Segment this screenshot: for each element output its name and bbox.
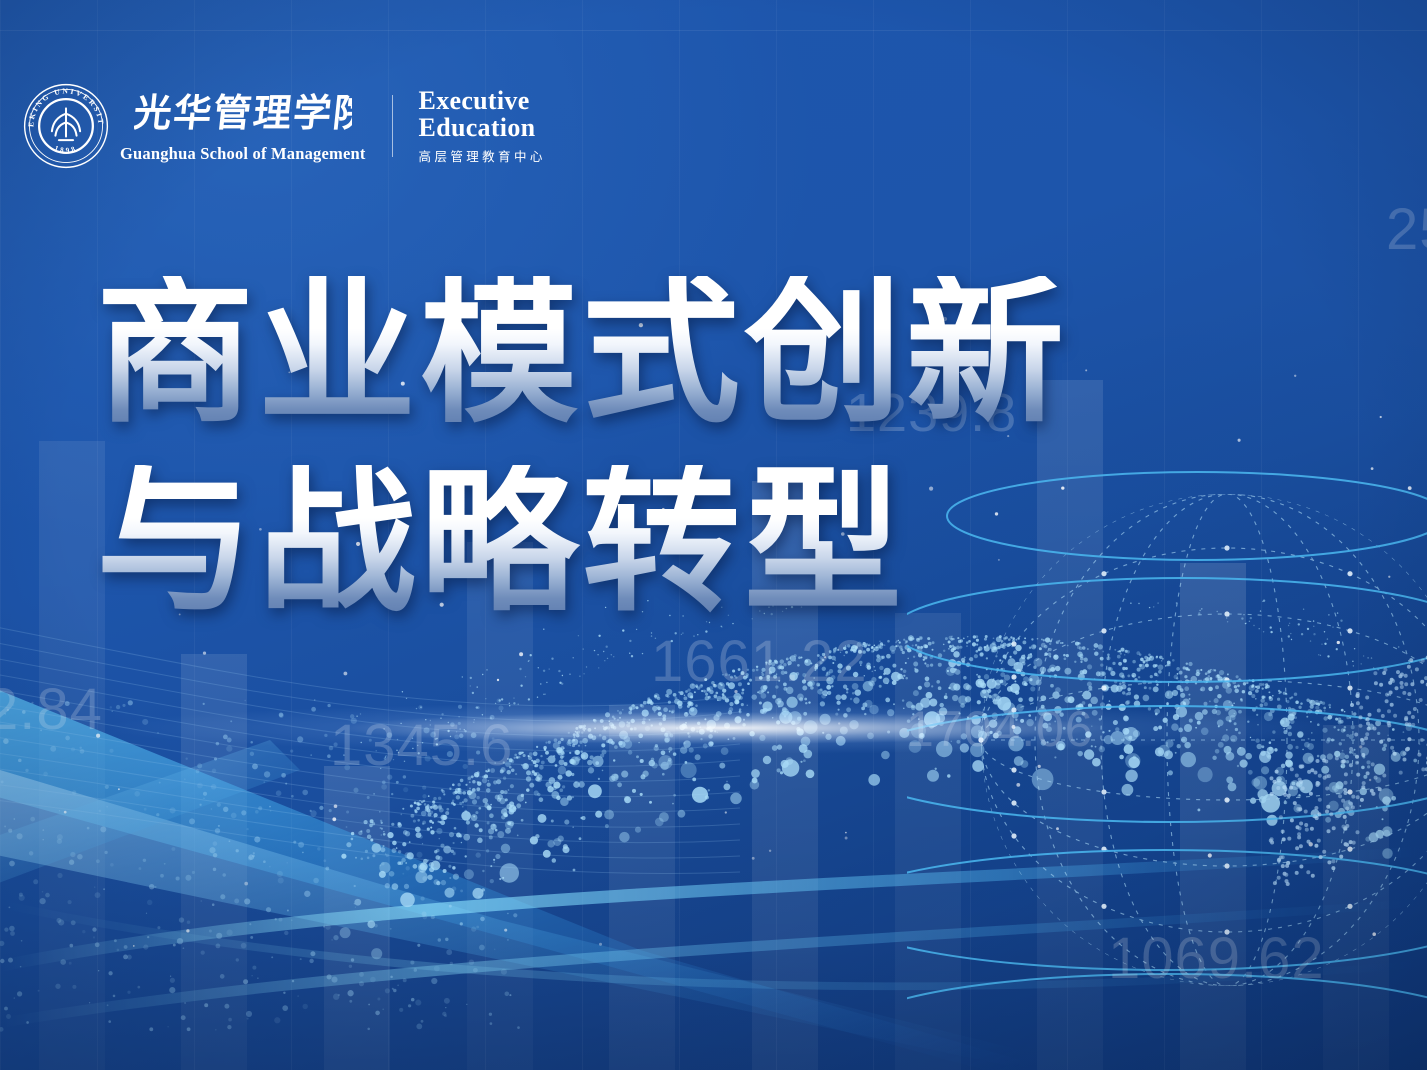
ghost-number: 1239.8	[846, 382, 1017, 444]
background-horizontal-rule	[0, 30, 1427, 31]
exec-edu-line1: Executive	[419, 87, 530, 114]
bar-chart-bar	[39, 441, 105, 1070]
bar-chart-bar	[895, 613, 961, 1070]
poster-title: 商业模式创新 与战略转型	[96, 276, 1068, 620]
guanghua-english-name: Guanghua School of Management	[120, 144, 366, 164]
poster-canvas: 251239.81661.222.841345.61704.061069.62 …	[0, 0, 1427, 1070]
bar-chart-bar	[1323, 725, 1389, 1070]
title-line-1: 商业模式创新	[96, 276, 1068, 431]
bar-chart-bar	[752, 481, 818, 1070]
bar-chart-bar	[467, 542, 533, 1070]
line-hatch-fan	[0, 600, 740, 900]
ghost-number: 2.84	[0, 676, 103, 743]
ghost-number: 1345.6	[330, 712, 513, 779]
ghost-number: 1661.22	[651, 628, 868, 695]
exec-edu-line2: Education	[419, 114, 536, 141]
bar-chart-bar	[324, 766, 390, 1070]
bar-chart-bar	[181, 654, 247, 1070]
title-line-2: 与战略转型	[96, 465, 1068, 620]
guanghua-name-block: 光华管理学院 Guanghua School of Management	[120, 88, 366, 164]
light-ribbon-lower	[0, 840, 1427, 1070]
guanghua-chinese-wordmark: 光华管理学院	[134, 88, 352, 140]
bar-chart-bar	[1037, 380, 1103, 1070]
globe-wireframe-icon	[907, 420, 1427, 1060]
logo-divider	[392, 95, 393, 157]
svg-text:光华管理学院: 光华管理学院	[134, 92, 352, 135]
brand-logo-lockup[interactable]: PEKING UNIVERSITY 1898 光华管理学院 Guanghua S…	[22, 82, 546, 170]
exec-edu-chinese: 高层管理教育中心	[419, 146, 546, 165]
bar-chart-bar	[609, 705, 675, 1070]
ghost-number: 25	[1386, 196, 1427, 263]
light-ribbon-left	[0, 620, 1040, 1070]
title-glow-streak	[96, 696, 1346, 760]
executive-education-block: Executive Education 高层管理教育中心	[419, 87, 546, 165]
ghost-number: 1069.62	[1108, 925, 1325, 992]
bar-chart-bar	[1180, 563, 1246, 1070]
ghost-number: 1704.06	[906, 700, 1094, 758]
peking-university-seal-icon: PEKING UNIVERSITY 1898	[22, 82, 110, 170]
